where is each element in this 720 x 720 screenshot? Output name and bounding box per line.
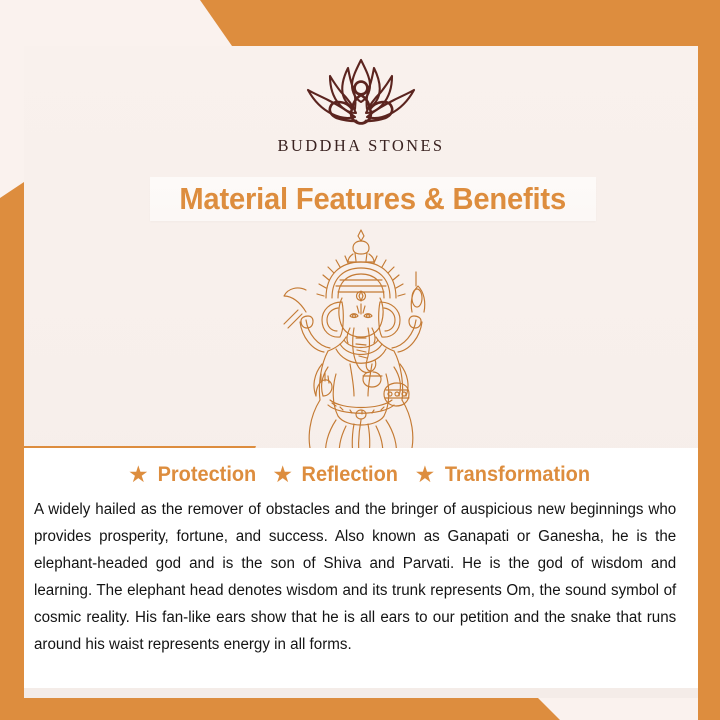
page-title: Material Features & Benefits bbox=[180, 181, 567, 217]
content-panel: ★ Protection ★ Reflection ★ Transformati… bbox=[24, 448, 698, 688]
star-icon: ★ bbox=[128, 463, 149, 486]
feature-item-transformation: ★ Transformation bbox=[415, 463, 594, 487]
feature-item-reflection: ★ Reflection bbox=[272, 463, 400, 487]
feature-label-transformation: Transformation bbox=[445, 463, 590, 487]
description-paragraph: A widely hailed as the remover of obstac… bbox=[34, 496, 676, 658]
star-icon: ★ bbox=[272, 463, 293, 486]
title-band: Material Features & Benefits bbox=[150, 177, 596, 221]
star-icon: ★ bbox=[415, 463, 436, 486]
poster: BUDDHA STONES Material Features & Benefi… bbox=[0, 0, 720, 720]
lotus-meditation-icon bbox=[286, 54, 436, 132]
feature-item-protection: ★ Protection bbox=[128, 463, 258, 487]
frame-top-bar bbox=[0, 0, 720, 46]
feature-label-protection: Protection bbox=[157, 463, 256, 487]
frame-left-bar bbox=[0, 182, 24, 720]
frame-right-bar bbox=[698, 0, 720, 720]
brand-name: BUDDHA STONES bbox=[277, 136, 444, 156]
feature-label-reflection: Reflection bbox=[302, 463, 398, 487]
feature-list: ★ Protection ★ Reflection ★ Transformati… bbox=[24, 448, 698, 487]
brand-logo: BUDDHA STONES bbox=[24, 54, 698, 156]
